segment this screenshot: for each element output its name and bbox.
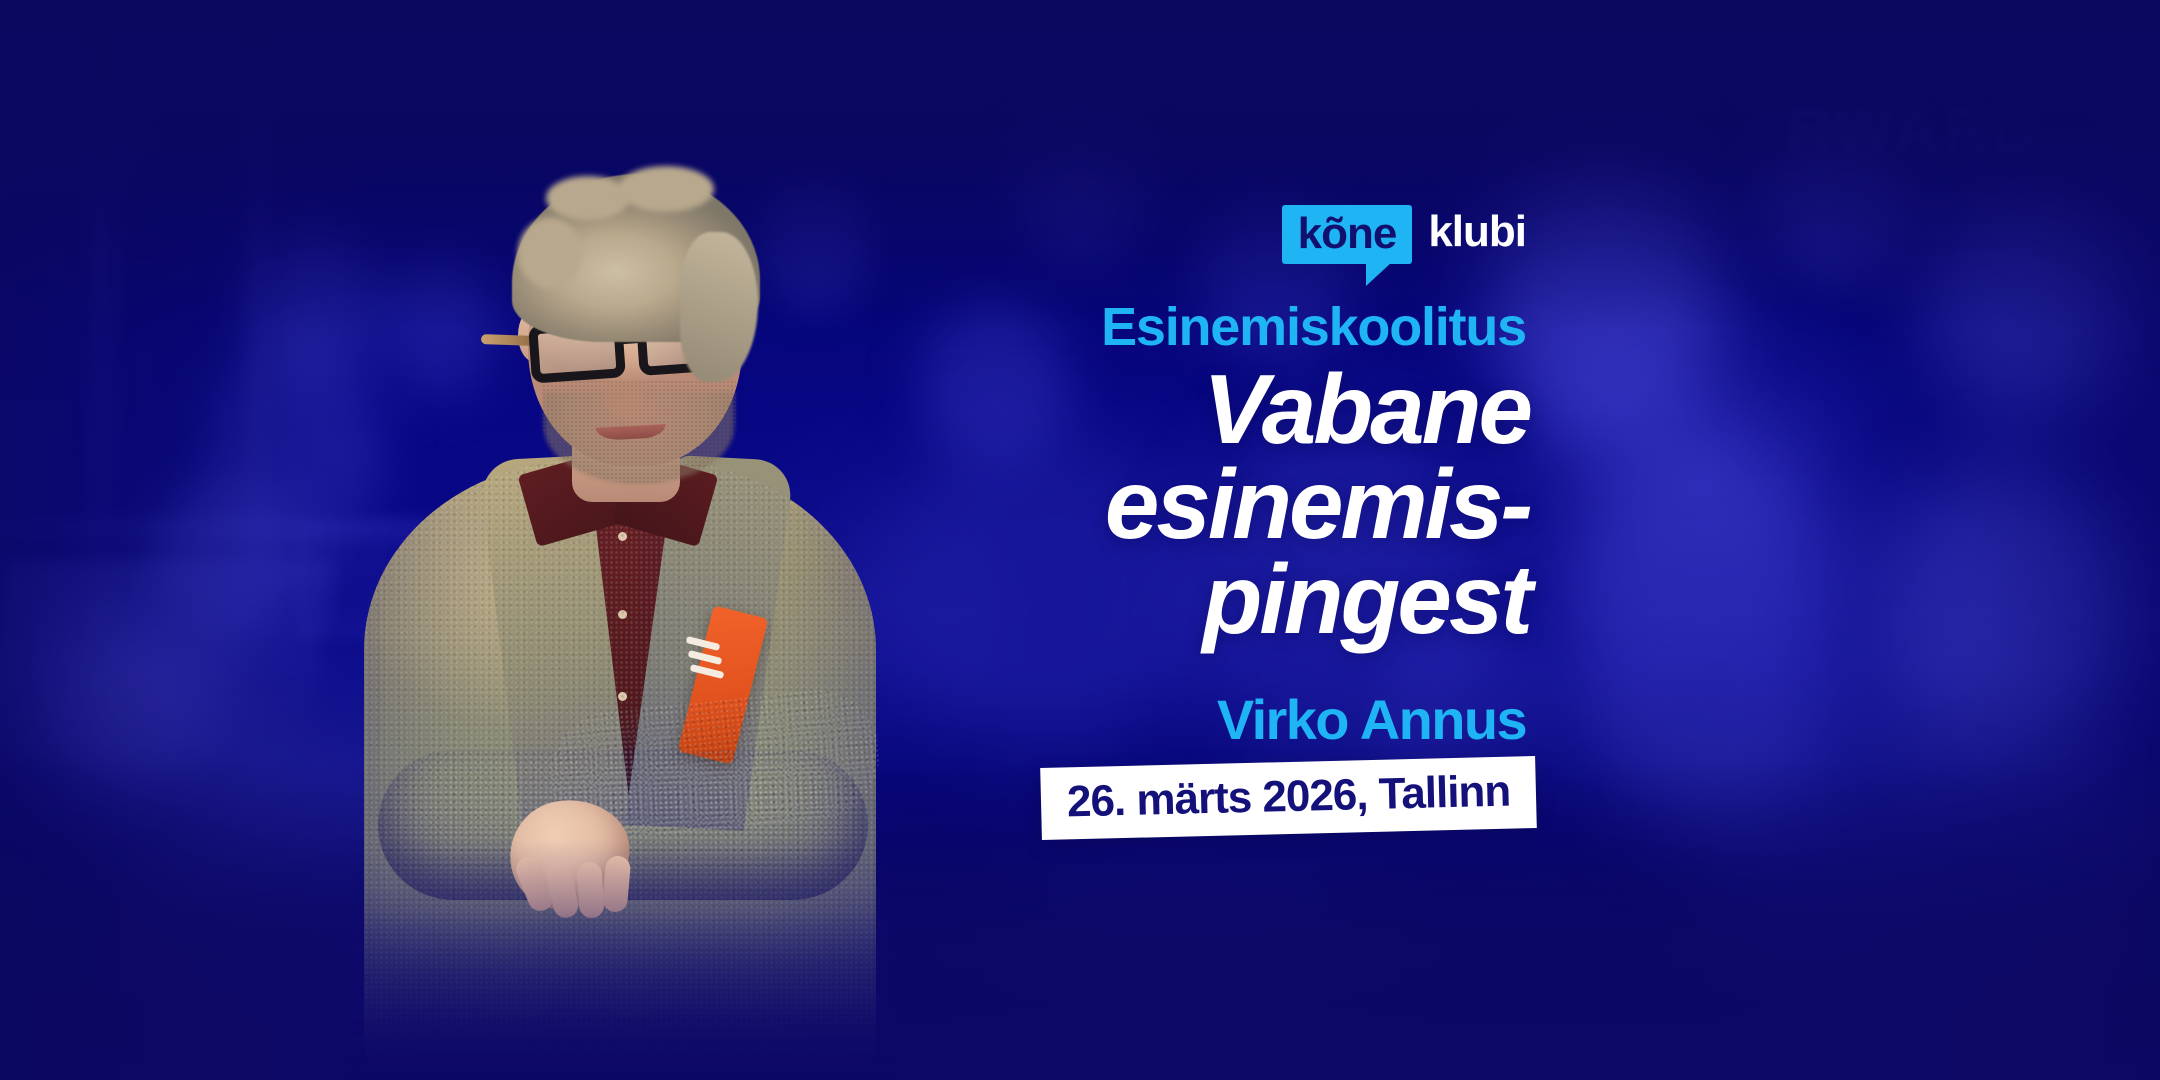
headline: Vabane esinemis- pingest	[990, 362, 1530, 647]
hair-tuft	[518, 218, 582, 288]
portrait-bottom-fade	[350, 840, 890, 1080]
hair-tuft	[618, 166, 714, 212]
logo-bubble-word: kõne	[1298, 212, 1397, 256]
event-promo-banner: RWARD	[0, 0, 2160, 1080]
headline-line-2: esinemis-	[990, 457, 1530, 552]
headline-line-3: pingest	[990, 552, 1530, 647]
speech-bubble-tail-icon	[1366, 262, 1392, 286]
hair-tuft	[546, 176, 630, 220]
date-location-ribbon: 26. märts 2026, Tallinn	[1040, 756, 1537, 840]
headline-line-1: Vabane	[990, 362, 1530, 457]
speech-bubble-icon: kõne	[1282, 205, 1413, 264]
logo-plain-word: klubi	[1428, 205, 1526, 260]
speaker-name: Virko Annus	[1217, 692, 1526, 748]
brand-logo[interactable]: kõne klubi	[1282, 205, 1526, 264]
text-content-block: kõne klubi Esinemiskoolitus Vabane esine…	[1000, 0, 1540, 1080]
event-kicker: Esinemiskoolitus	[1101, 300, 1526, 354]
speaker-portrait	[350, 140, 890, 1080]
date-location-text: 26. märts 2026, Tallinn	[1066, 770, 1510, 825]
